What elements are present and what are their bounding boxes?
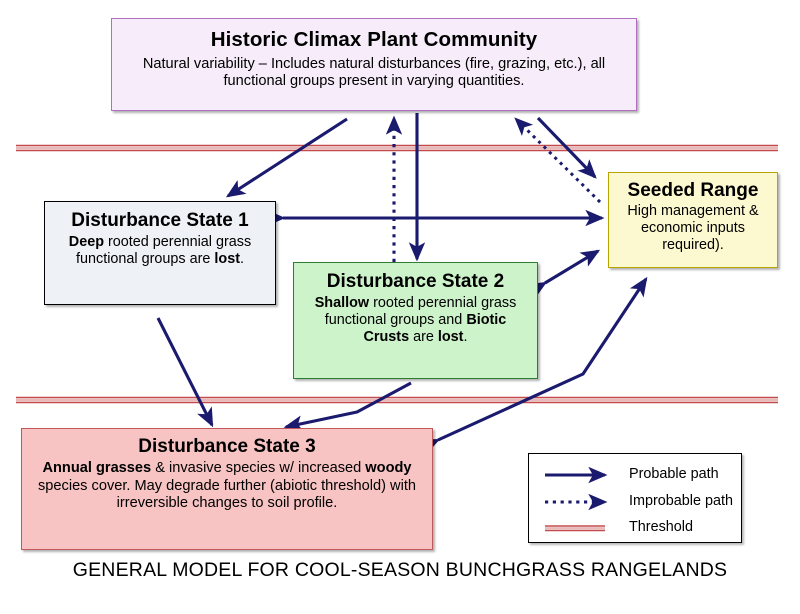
seeded-body-line3: required). bbox=[662, 237, 724, 253]
hcpc-body-line1: Natural variability – Includes natural d… bbox=[143, 56, 550, 72]
legend-label-threshold: Threshold bbox=[629, 519, 693, 535]
ds3-body-text-1: & invasive species w/ increased bbox=[151, 460, 365, 476]
arrow-hcpc-to-seeded bbox=[538, 118, 595, 177]
node-seeded-range[interactable]: Seeded Range High management & economic … bbox=[608, 172, 778, 268]
ds1-body-emphasis-2: lost bbox=[214, 251, 240, 267]
hcpc-title: Historic Climax Plant Community bbox=[112, 28, 636, 52]
ds3-body-emphasis-2: woody bbox=[365, 460, 411, 476]
hcpc-body: Natural variability – Includes natural d… bbox=[112, 56, 636, 90]
node-disturbance-state-1[interactable]: Disturbance State 1 Deep rooted perennia… bbox=[44, 201, 276, 305]
ds3-body: Annual grasses & invasive species w/ inc… bbox=[22, 460, 432, 512]
arrow-ds2-seeded-bidirectional bbox=[545, 251, 598, 283]
node-disturbance-state-2[interactable]: Disturbance State 2 Shallow rooted peren… bbox=[293, 262, 538, 379]
node-disturbance-state-3[interactable]: Disturbance State 3 Annual grasses & inv… bbox=[21, 428, 433, 550]
ds1-body: Deep rooted perennial grass functional g… bbox=[45, 234, 275, 268]
seeded-body-line2: economic inputs bbox=[641, 220, 745, 236]
ds3-title: Disturbance State 3 bbox=[22, 436, 432, 458]
diagram-caption: GENERAL MODEL FOR COOL-SEASON BUNCHGRASS… bbox=[0, 559, 800, 582]
ds1-body-emphasis-1: Deep bbox=[69, 234, 104, 250]
ds3-body-emphasis-1: Annual grasses bbox=[42, 460, 151, 476]
seeded-title: Seeded Range bbox=[609, 180, 777, 202]
seeded-body-line1: High management & bbox=[627, 203, 758, 219]
legend: Probable path Improbable path Threshold bbox=[528, 453, 742, 543]
upper-threshold bbox=[16, 146, 778, 151]
ds2-body-emphasis-1: Shallow bbox=[315, 295, 369, 311]
solid-arrow-icon bbox=[543, 464, 621, 486]
legend-item-probable-path: Probable path bbox=[529, 464, 741, 486]
ds1-body-text-2: . bbox=[240, 251, 244, 267]
ds3-body-text-2: species cover. May degrade further (abio… bbox=[38, 478, 416, 511]
node-historic-climax-plant-community[interactable]: Historic Climax Plant Community Natural … bbox=[111, 18, 637, 111]
arrow-ds2-to-ds3 bbox=[286, 383, 411, 427]
ds2-title: Disturbance State 2 bbox=[294, 271, 537, 293]
lower-threshold bbox=[16, 398, 778, 403]
ds2-body-text-2: are bbox=[409, 329, 438, 345]
ds2-body: Shallow rooted perennial grass functiona… bbox=[294, 295, 537, 346]
arrow-ds1-to-ds3 bbox=[158, 318, 212, 425]
ds1-title: Disturbance State 1 bbox=[45, 210, 275, 232]
dotted-arrow-icon bbox=[543, 491, 621, 513]
legend-label-probable-path: Probable path bbox=[629, 466, 719, 482]
double-red-line-icon bbox=[543, 517, 621, 539]
legend-label-improbable-path: Improbable path bbox=[629, 493, 733, 509]
arrow-hcpc-to-ds1 bbox=[228, 119, 347, 196]
ds2-body-emphasis-3: lost bbox=[438, 329, 464, 345]
diagram-canvas: Historic Climax Plant Community Natural … bbox=[0, 0, 800, 614]
ds2-body-text-3: . bbox=[463, 329, 467, 345]
legend-item-improbable-path: Improbable path bbox=[529, 491, 741, 513]
arrow-seeded-to-hcpc bbox=[516, 119, 600, 202]
legend-item-threshold: Threshold bbox=[529, 517, 741, 539]
seeded-body: High management & economic inputs requir… bbox=[609, 203, 777, 254]
